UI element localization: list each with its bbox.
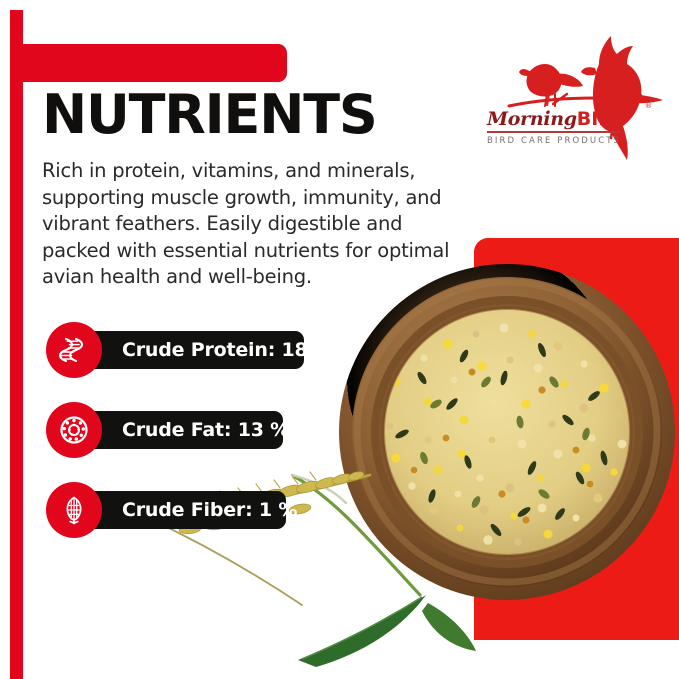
svg-text:®: ® [645,102,652,110]
fact-pill-fat: Crude Fat: 13 % [74,411,283,449]
fat-globule-icon [46,402,102,458]
logo-word-bold: BIRD [577,108,629,130]
fact-label: Crude Protein: 18 % [122,339,333,361]
logo-word-script: Morning [487,108,577,130]
logo-divider [487,131,620,133]
left-red-accent-bar [10,10,23,679]
fuel-your-birds-banner [10,44,287,82]
banner-label: Fuel Your Birds [34,6,243,35]
fact-pill-fiber: Crude Fiber: 1 % [74,491,286,529]
page-title: NUTRIENTS [42,88,377,142]
fact-label: Crude Fat: 13 % [122,419,289,441]
botanical-garnish [120,455,550,679]
logo-wordmark: MorningBIRD BIRD CARE PRODUCTS [487,108,624,146]
fact-pill-protein: Crude Protein: 18 % [74,331,304,369]
logo-tagline: BIRD CARE PRODUCTS [487,136,624,146]
fact-label: Crude Fiber: 1 % [122,499,297,521]
protein-helix-icon [46,322,102,378]
brand-logo: ® MorningBIRD BIRD CARE PRODUCTS [487,34,667,164]
fiber-artichoke-icon [46,482,102,538]
infographic-canvas: Fuel Your Birds NUTRIENTS Rich in protei… [0,0,679,679]
